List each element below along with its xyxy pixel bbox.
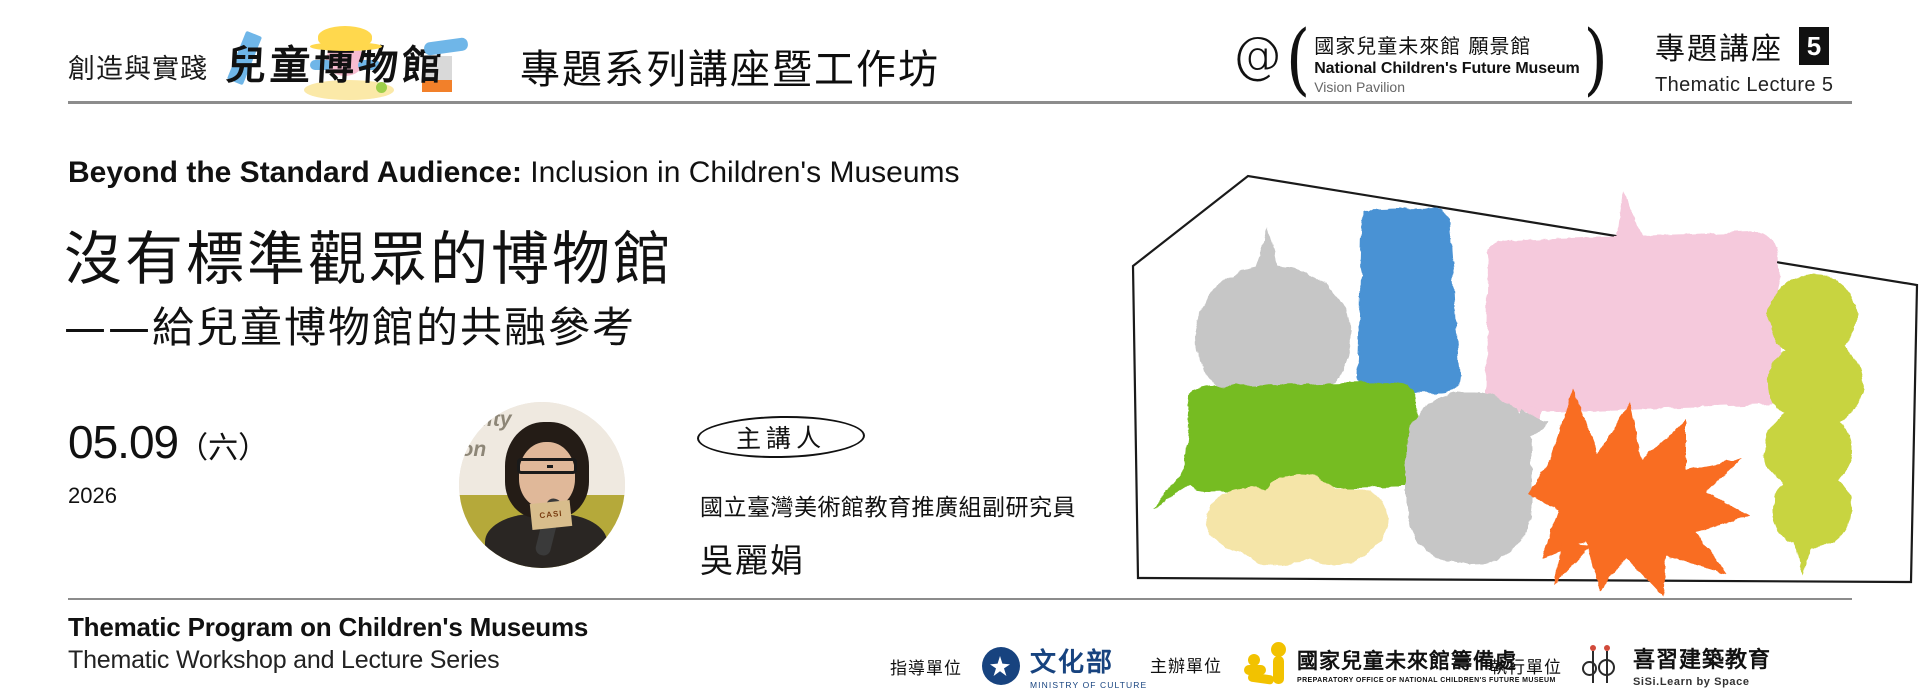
page-title-cn-line2: ——給兒童博物館的共融參考 bbox=[64, 294, 636, 355]
footer-divider bbox=[68, 598, 1852, 600]
header-tagline: 創造與實踐 bbox=[68, 47, 208, 86]
logo-green-dot-deco bbox=[376, 82, 387, 93]
event-date-block: 05.09（六） 2026 bbox=[68, 415, 268, 509]
glasses-icon bbox=[517, 458, 577, 474]
speaker-name: 吳麗娟 bbox=[700, 534, 805, 582]
event-date-year: 2026 bbox=[68, 483, 268, 509]
lecture-label-en: Thematic Lecture 5 bbox=[1655, 74, 1833, 97]
microphone-flag: CASI bbox=[530, 500, 572, 530]
venue-subtitle: Vision Pavilion bbox=[1314, 79, 1579, 95]
sisi-mark-icon bbox=[1582, 645, 1624, 685]
page-title-en-bold: Beyond the Standard Audience: bbox=[68, 156, 522, 189]
page-title-en: Beyond the Standard Audience: Inclusion … bbox=[68, 156, 960, 190]
gray-round-bubble bbox=[1195, 228, 1351, 409]
childrens-museum-logo: 兒童博物館 bbox=[226, 30, 488, 102]
event-date-weekday: （六） bbox=[178, 423, 268, 467]
sponsor-label-advisor: 指導單位 bbox=[890, 654, 962, 679]
ncfm-figures-icon bbox=[1242, 642, 1288, 686]
ncfm-adult-head-icon bbox=[1271, 642, 1286, 657]
at-icon: @ bbox=[1232, 26, 1282, 84]
straw-hat-icon bbox=[318, 26, 372, 48]
lecture-label-cn: 專題講座 bbox=[1655, 24, 1783, 68]
avatar-face bbox=[519, 442, 575, 508]
event-date-main: 05.09（六） bbox=[68, 415, 268, 469]
venue-name-cn: 國家兒童未來館 願景館 bbox=[1314, 30, 1579, 59]
sisi-logo: 喜習建築教育 SiSi.Learn by Space bbox=[1582, 642, 1771, 688]
sponsor-group-executor: 執行單位 喜習建築教育 SiSi.Learn by Space bbox=[1490, 642, 1771, 688]
footer-program-title: Thematic Program on Children's Museums bbox=[68, 612, 588, 643]
orange-star-bubble bbox=[1528, 388, 1750, 598]
avatar-backdrop-text-1: sibility bbox=[459, 408, 512, 432]
lecture-number-badge: 5 bbox=[1799, 27, 1829, 65]
sisi-text: 喜習建築教育 SiSi.Learn by Space bbox=[1633, 642, 1771, 688]
lecture-number-block: 專題講座 5 Thematic Lecture 5 bbox=[1655, 24, 1833, 97]
microphone-flag-text: CASI bbox=[530, 500, 572, 530]
speaker-badge: 主講人 bbox=[697, 415, 866, 460]
venue-text-group: 國家兒童未來館 願景館 National Children's Future M… bbox=[1314, 26, 1579, 95]
lecture-row: 專題講座 5 bbox=[1655, 24, 1833, 68]
venue-block: @ ( 國家兒童未來館 願景館 National Children's Futu… bbox=[1232, 26, 1608, 95]
house-speech-bubbles-illustration bbox=[1130, 170, 1920, 600]
ministry-of-culture-name-en: MINISTRY OF CULTURE bbox=[1030, 680, 1147, 690]
sponsor-logos: 指導單位 文化部 MINISTRY OF CULTURE 主辦單位 國家兒童未來… bbox=[890, 620, 1890, 690]
paren-open-icon: ( bbox=[1286, 20, 1310, 98]
speaker-avatar: sibility sion CASI bbox=[459, 402, 625, 568]
sisi-name-cn: 喜習建築教育 bbox=[1633, 642, 1771, 674]
sponsor-label-executor: 執行單位 bbox=[1490, 653, 1562, 678]
header-brand-group: 創造與實踐 兒童博物館 專題系列講座暨工作坊 bbox=[68, 30, 940, 102]
sisi-circle-right-icon bbox=[1598, 659, 1615, 676]
paren-close-icon: ) bbox=[1584, 20, 1608, 98]
page-title-en-rest: Inclusion in Children's Museums bbox=[522, 156, 960, 189]
sisi-name-en: SiSi.Learn by Space bbox=[1633, 676, 1771, 688]
event-date-md: 05.09 bbox=[68, 415, 178, 469]
footer-series-title: Thematic Workshop and Lecture Series bbox=[68, 646, 588, 675]
gray-oval-bubble bbox=[1406, 392, 1548, 564]
ncfm-adult-body-icon bbox=[1273, 656, 1284, 684]
ministry-of-culture-logo: 文化部 MINISTRY OF CULTURE bbox=[982, 642, 1147, 690]
sponsor-label-organizer: 主辦單位 bbox=[1150, 652, 1222, 677]
ministry-of-culture-text: 文化部 MINISTRY OF CULTURE bbox=[1030, 642, 1147, 690]
avatar-backdrop-text-2: sion bbox=[459, 438, 486, 462]
sponsor-group-advisor: 指導單位 文化部 MINISTRY OF CULTURE bbox=[890, 642, 1147, 690]
page-title-cn-line1: 沒有標準觀眾的博物館 bbox=[64, 212, 674, 296]
footer-program-block: Thematic Program on Children's Museums T… bbox=[68, 612, 588, 675]
ministry-of-culture-name-cn: 文化部 bbox=[1030, 642, 1147, 679]
ministry-of-culture-mark-icon bbox=[982, 647, 1020, 685]
sisi-circle-left-icon bbox=[1582, 661, 1597, 676]
page-header: 創造與實踐 兒童博物館 專題系列講座暨工作坊 @ ( 國家兒童未來館 願景館 N… bbox=[0, 0, 1920, 108]
yellowgreen-cloud-bubble bbox=[1764, 275, 1864, 574]
ncfm-child-leg-icon bbox=[1248, 672, 1275, 685]
venue-name-en: National Children's Future Museum bbox=[1314, 60, 1579, 78]
speaker-organization: 國立臺灣美術館教育推廣組副研究員 bbox=[700, 488, 1076, 522]
header-series-title: 專題系列講座暨工作坊 bbox=[520, 37, 940, 95]
